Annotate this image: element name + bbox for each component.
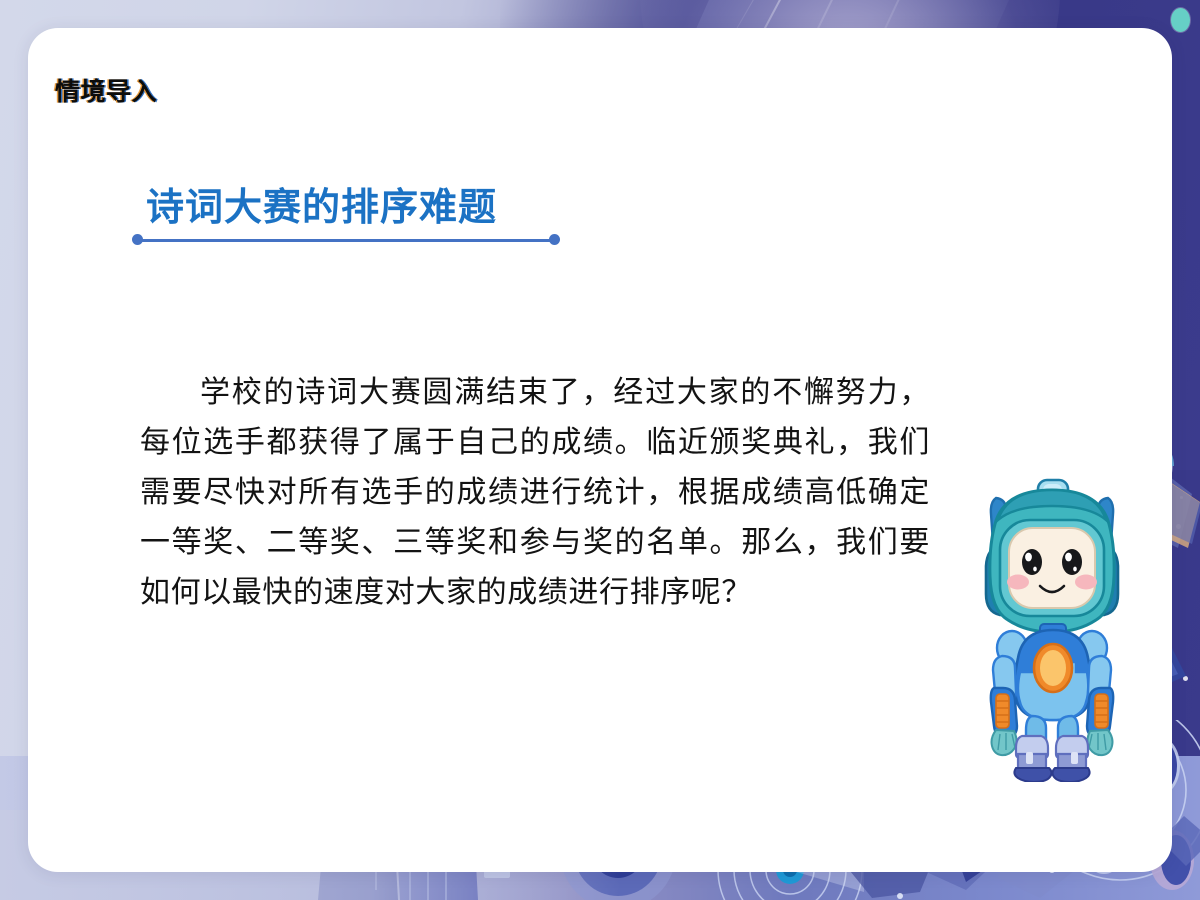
underline-dot-right-icon — [549, 234, 560, 245]
slide-canvas: 情境导入 诗词大赛的排序难题 学校的诗词大赛圆满结束了，经过大家的不懈努力，每位… — [0, 0, 1200, 900]
heading-underline-decor-icon — [132, 233, 560, 247]
underline-rule — [137, 239, 555, 242]
body-paragraph: 学校的诗词大赛圆满结束了，经过大家的不懈努力，每位选手都获得了属于自己的成绩。临… — [140, 368, 930, 618]
content-card: 情境导入 诗词大赛的排序难题 学校的诗词大赛圆满结束了，经过大家的不懈努力，每位… — [28, 28, 1172, 872]
teal-circle-decor-icon — [1171, 8, 1190, 32]
page-title: 诗词大赛的排序难题 — [146, 176, 497, 231]
robot-mascot-icon — [970, 472, 1134, 782]
underline-dot-left-icon — [132, 234, 143, 245]
section-kicker: 情境导入 — [55, 72, 157, 108]
